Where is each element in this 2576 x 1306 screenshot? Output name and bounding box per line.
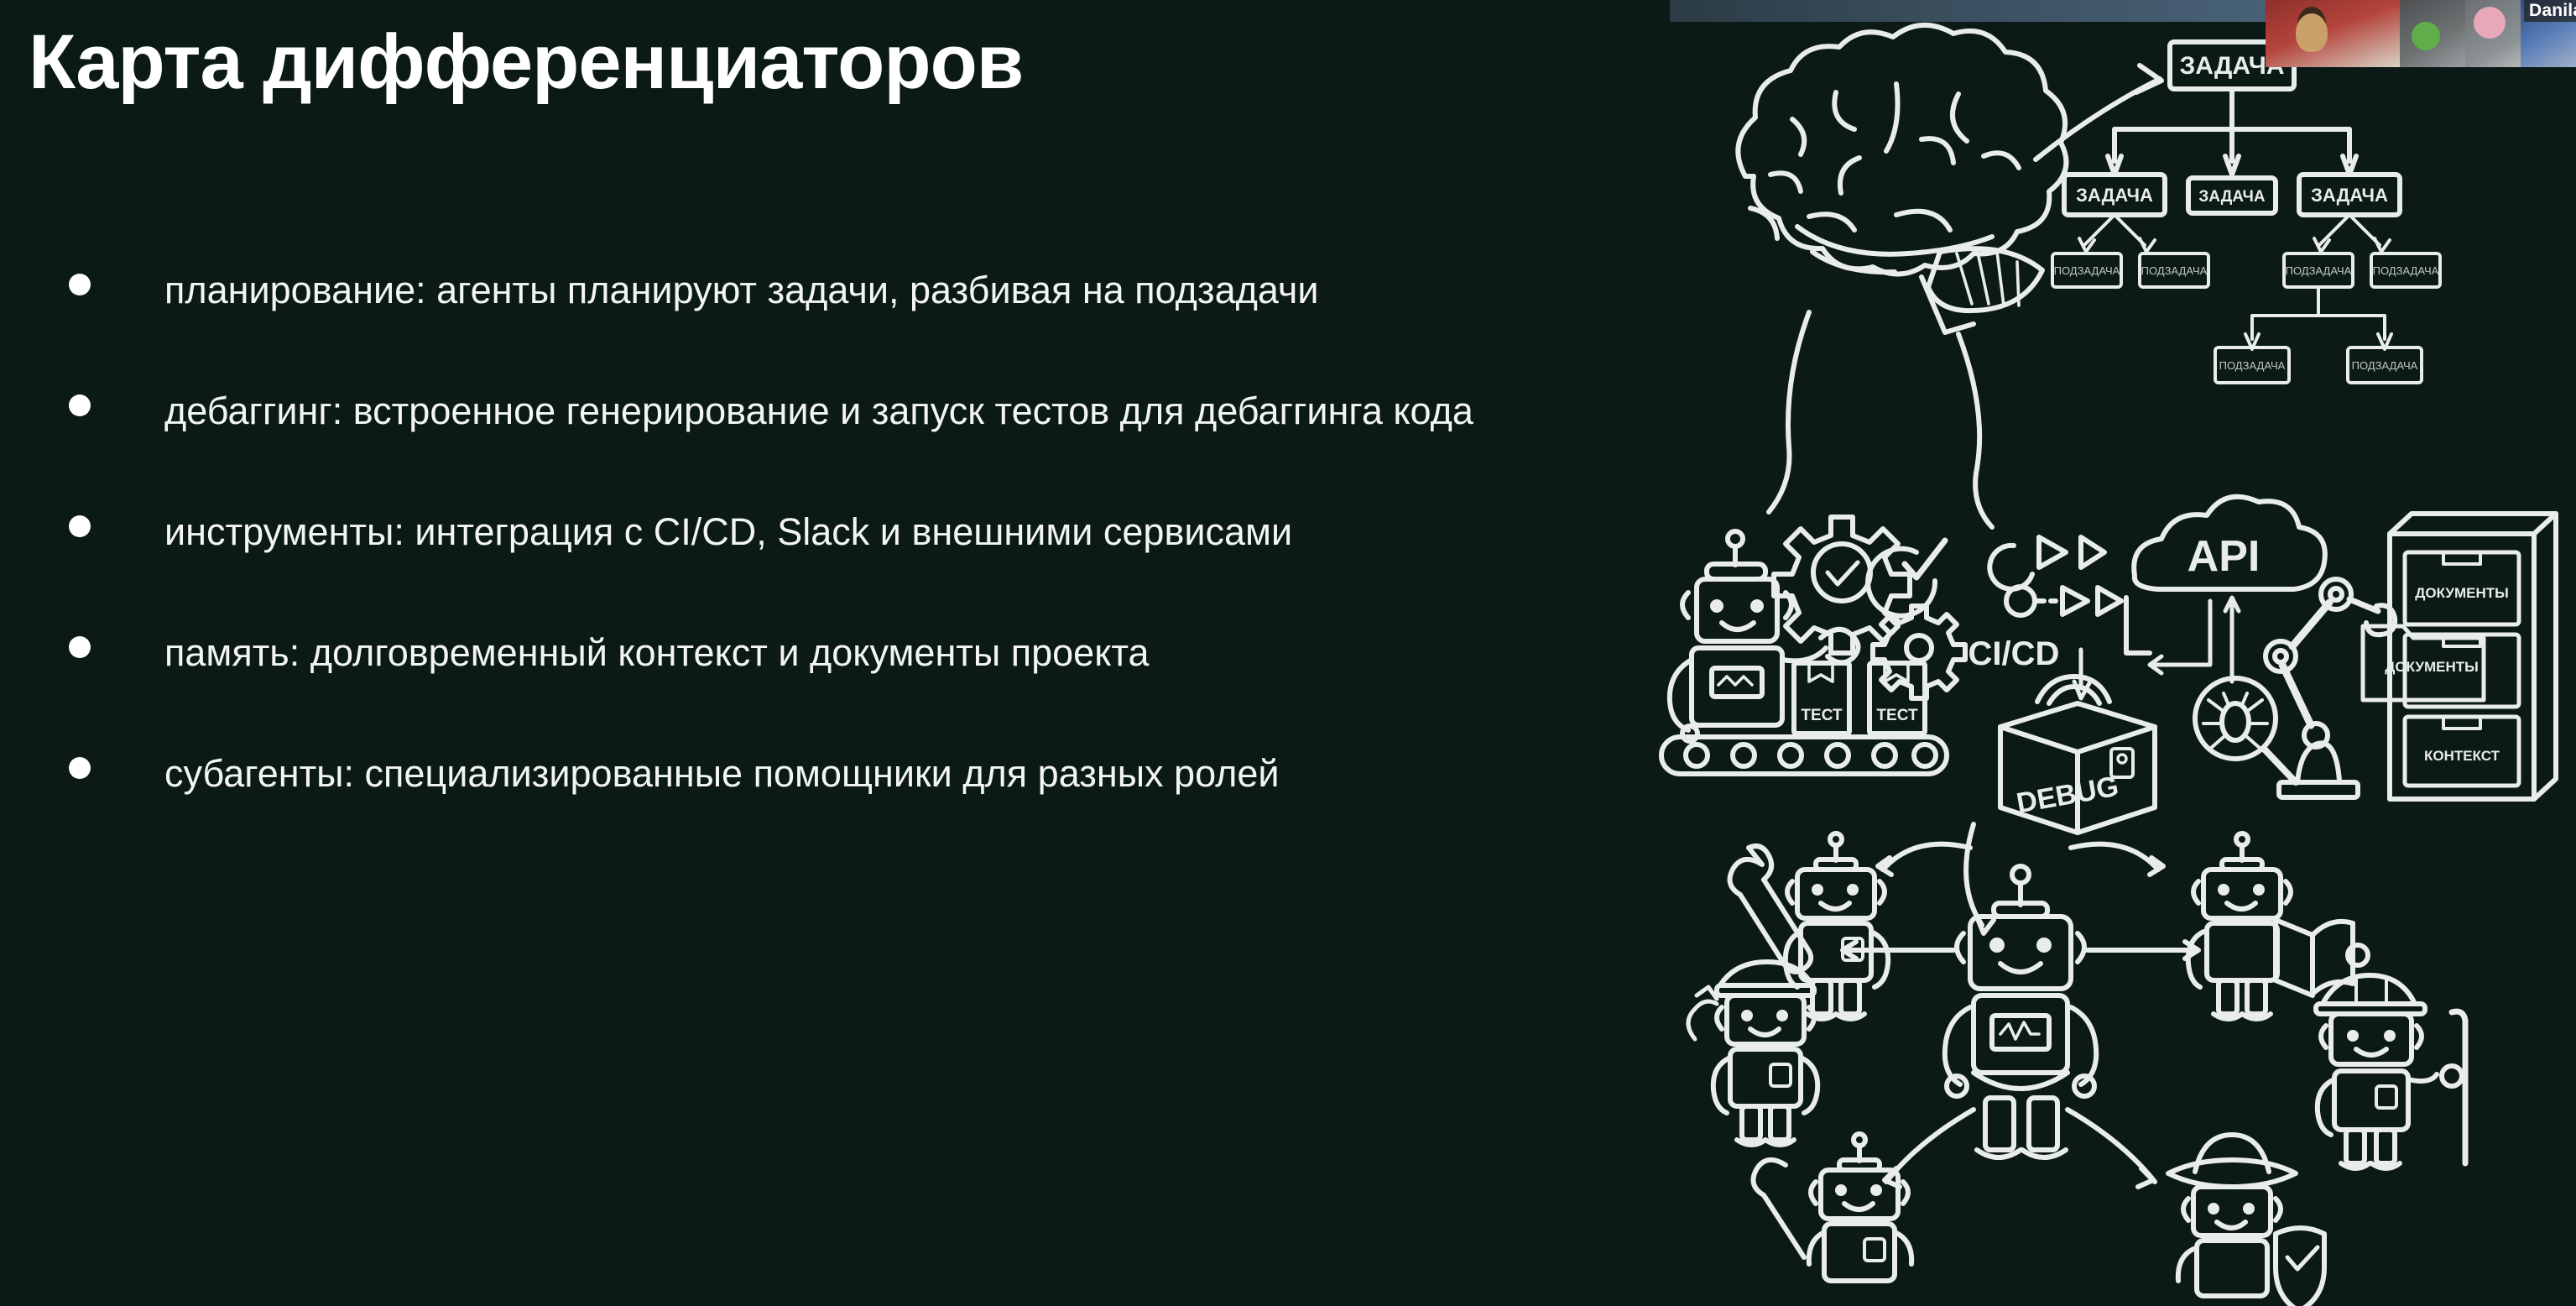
subtask-label: ПОДЗАДАЧА	[2141, 264, 2208, 277]
test-box-1-label: ТЕСТ	[1801, 707, 1843, 724]
task-tree-icon: ЗАДАЧА ЗАДАЧА ЗАДАЧА ЗАДАЧА ПОДЗАДАЧА ПО…	[2052, 42, 2440, 383]
brain-icon	[1738, 25, 2066, 332]
bullet-dot-icon	[69, 274, 91, 295]
subagent-detective-robot-icon	[2168, 1135, 2324, 1306]
bullet-dot-icon	[69, 394, 91, 416]
documents-drawer-label: ДОКУМЕНТЫ	[2415, 585, 2509, 601]
subagent-reader-robot-icon	[2188, 833, 2368, 1019]
brain-down-right-line	[1958, 334, 1992, 527]
task-child-2-label: ЗАДАЧА	[2198, 188, 2265, 206]
debug-toolbox-icon: DEBUG	[2000, 677, 2155, 833]
list-item: субагенты: специализированные помощники …	[0, 735, 1645, 812]
list-item-label: инструменты: интеграция с CI/CD, Slack и…	[164, 494, 1591, 571]
presentation-slide: Карта дифференциаторов планирование: аге…	[0, 0, 2576, 1306]
subtask-label: ПОДЗАДАЧА	[2352, 359, 2418, 372]
cicd-pipeline-icon: CI/CD	[1969, 537, 2150, 698]
subtask-label: ПОДЗАДАЧА	[2219, 359, 2286, 372]
video-tile-speaker[interactable]	[2266, 0, 2400, 67]
debug-label: DEBUG	[2014, 771, 2121, 820]
participant-name-label: Danila Simonov	[2524, 0, 2576, 22]
robot-conveyor-icon: ТЕСТ ТЕСТ	[1661, 531, 1947, 774]
agent-architecture-diagram: ЗАДАЧА ЗАДАЧА ЗАДАЧА ЗАДАЧА ПОДЗАДАЧА ПО…	[1645, 0, 2576, 1306]
subagent-wrench-robot-icon	[1730, 833, 1889, 1019]
list-item-label: дебаггинг: встроенное генерирование и за…	[164, 373, 1591, 450]
tools-to-agent-line	[1966, 824, 1982, 925]
list-item: память: долговременный контекст и докуме…	[0, 614, 1645, 692]
bullet-list: планирование: агенты планируют задачи, р…	[0, 252, 1645, 856]
subtask-label: ПОДЗАДАЧА	[2286, 264, 2352, 277]
task-child-1-label: ЗАДАЧА	[2076, 185, 2153, 206]
video-tile-participant[interactable]	[2400, 0, 2465, 67]
task-child-3-label: ЗАДАЧА	[2311, 185, 2388, 206]
api-label: API	[2188, 532, 2261, 581]
filing-cabinet-icon: ДОКУМЕНТЫ ДОКУМЕНТЫ КОНТЕКСТ	[2363, 514, 2556, 799]
subagent-tool-robot-icon	[1754, 1134, 1912, 1281]
arrow-head	[2136, 65, 2161, 92]
list-item-label: планирование: агенты планируют задачи, р…	[164, 252, 1591, 329]
test-box-2-label: ТЕСТ	[1876, 707, 1918, 724]
context-drawer-label: КОНТЕКСТ	[2424, 748, 2500, 764]
bullet-dot-icon	[69, 515, 91, 537]
bug-magnifier-icon	[2195, 678, 2296, 782]
subagent-hardhat-robot-icon	[2316, 975, 2465, 1168]
subtask-label: ПОДЗАДАЧА	[2054, 264, 2120, 277]
bullet-dot-icon	[69, 757, 91, 779]
cicd-label: CI/CD	[1969, 635, 2060, 672]
page-title: Карта дифференциаторов	[29, 18, 1023, 107]
subtask-label: ПОДЗАДАЧА	[2373, 264, 2439, 277]
list-item: дебаггинг: встроенное генерирование и за…	[0, 373, 1645, 450]
list-item: планирование: агенты планируют задачи, р…	[0, 252, 1645, 329]
list-item-label: субагенты: специализированные помощники …	[164, 735, 1591, 812]
brain-down-left-line	[1769, 312, 1809, 512]
bullet-dot-icon	[69, 636, 91, 658]
robot-arm-icon	[2266, 579, 2395, 797]
video-tile-participant[interactable]	[2465, 0, 2521, 67]
documents-folder-label: ДОКУМЕНТЫ	[2385, 659, 2479, 675]
list-item: инструменты: интеграция с CI/CD, Slack и…	[0, 494, 1645, 571]
list-item-label: память: долговременный контекст и докуме…	[164, 614, 1591, 692]
